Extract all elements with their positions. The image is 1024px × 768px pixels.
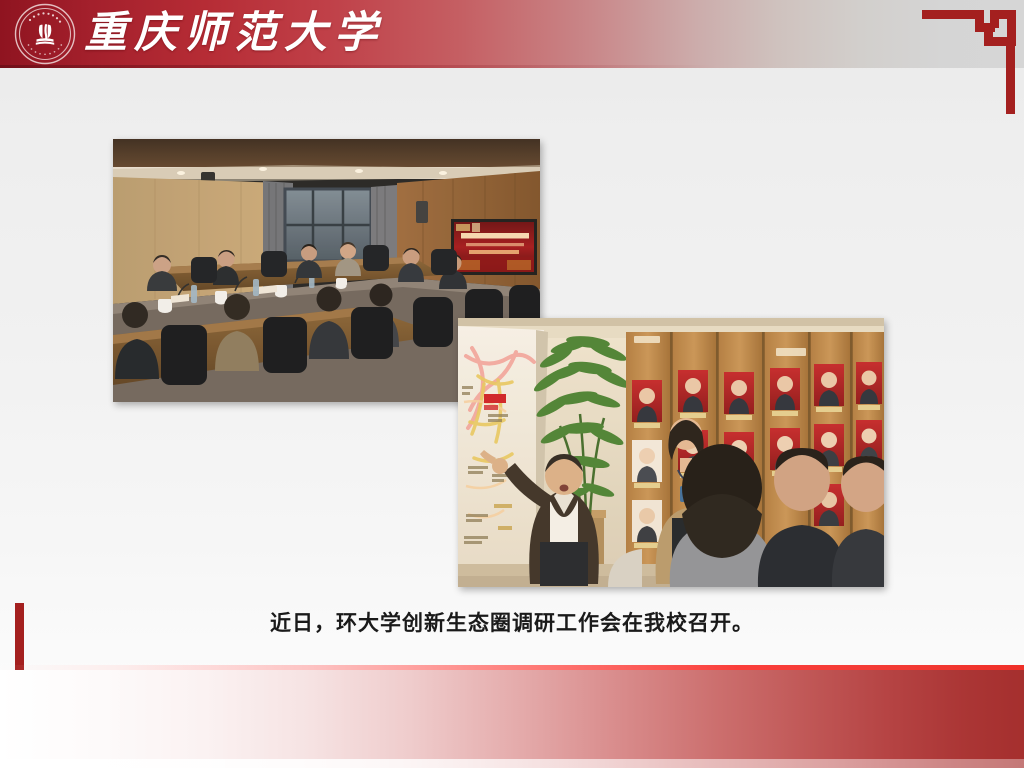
school-name-title: 重庆师范大学 xyxy=(84,3,384,65)
school-emblem-icon xyxy=(14,3,76,65)
chinese-corner-ornament-icon xyxy=(920,8,1024,116)
slide-caption: 近日，环大学创新生态圈调研工作会在我校召开。 xyxy=(0,607,1024,637)
footer-gradient-band xyxy=(0,665,1024,768)
photo-exhibition-visit xyxy=(458,318,884,587)
footer-gradient-fill xyxy=(0,670,1024,768)
presentation-slide: 重庆师范大学 xyxy=(0,0,1024,768)
header-banner: 重庆师范大学 xyxy=(0,0,1024,68)
